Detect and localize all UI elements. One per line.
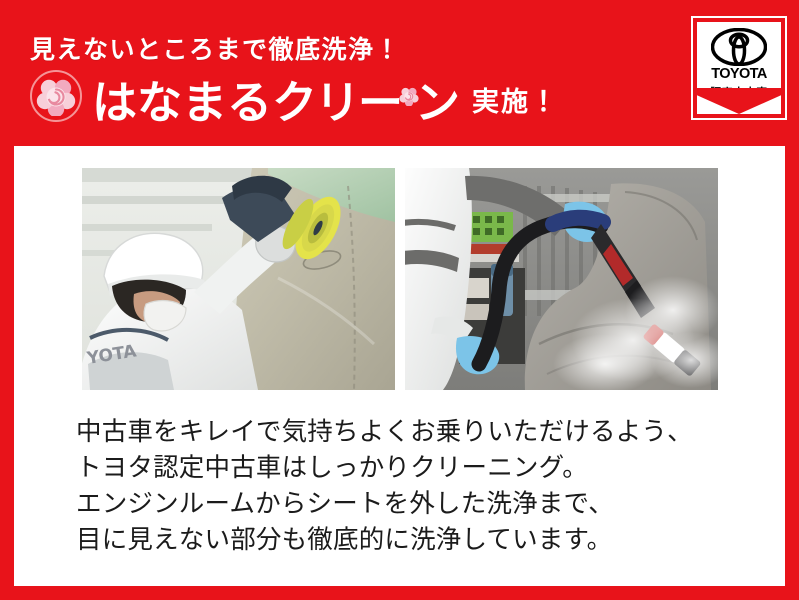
badge-inner-panel: TOYOTA 認定中古車 — [697, 22, 781, 114]
brand-part-hiragana: はなまる — [92, 76, 272, 129]
badge-chevron-shape — [697, 88, 781, 114]
brand-wordmark: はなまるクリーン — [92, 68, 458, 125]
seat-steam-cleaning-photo — [405, 168, 718, 390]
toyota-wordmark: TOYOTA — [697, 66, 781, 82]
header-band: 見えないところまで徹底洗浄！ はなまるクリーン — [0, 0, 799, 140]
toyota-emblem-icon — [711, 28, 767, 71]
body-copy: 中古車をキレイで気持ちよくお乗りいただけるよう、 トヨタ認定中古車はしっかりクリ… — [76, 414, 776, 558]
photo-gallery: YOTA — [82, 168, 718, 390]
copy-line-4: 目に見えない部分も徹底的に洗浄しています。 — [76, 522, 776, 558]
toyota-certified-badge: TOYOTA 認定中古車 — [691, 16, 787, 120]
brand-part-n: ン — [415, 76, 458, 129]
brand-part-katakana: クリー — [272, 76, 401, 129]
hanamaru-flower-icon — [30, 70, 82, 122]
car-body-polishing-photo: YOTA — [82, 168, 395, 390]
copy-line-3: エンジンルームからシートを外した洗浄まで、 — [76, 486, 776, 522]
promo-poster: 見えないところまで徹底洗浄！ はなまるクリーン — [0, 0, 799, 600]
copy-line-2: トヨタ認定中古車はしっかりクリーニング。 — [76, 450, 776, 486]
headline-text: 見えないところまで徹底洗浄！ — [30, 30, 401, 66]
content-panel: YOTA — [14, 146, 785, 586]
copy-line-1: 中古車をキレイで気持ちよくお乗りいただけるよう、 — [76, 414, 776, 450]
brand-logo-line: はなまるクリーン 実施！ — [30, 68, 559, 124]
jisshi-label: 実施！ — [472, 80, 559, 124]
